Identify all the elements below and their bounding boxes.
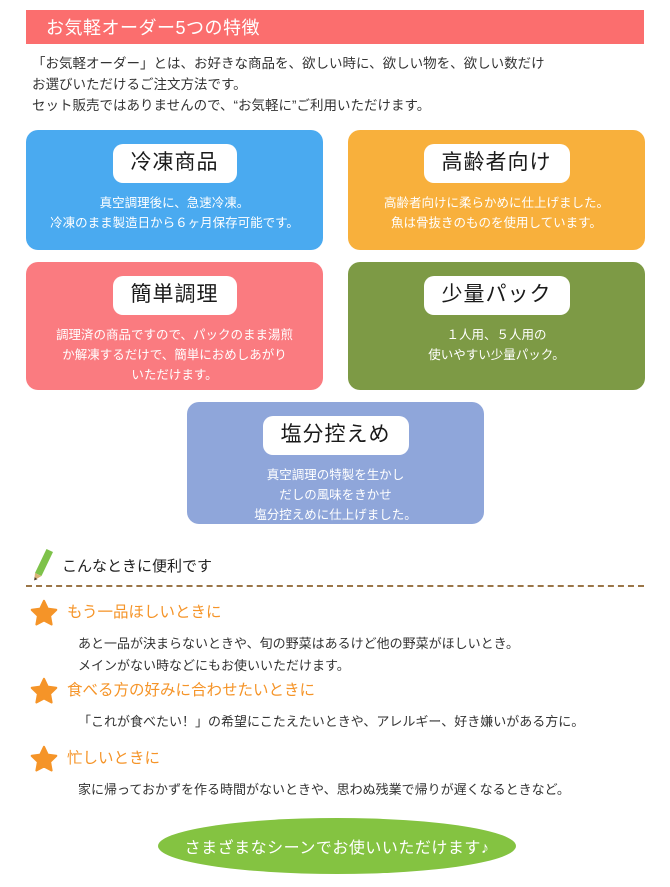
intro-paragraph: 「お気軽オーダー」とは、お好きな商品を、欲しい時に、欲しい物を、欲しい数だけ お… bbox=[32, 53, 638, 116]
usecase-item: もう一品ほしいときに あと一品が決まらないときや、旬の野菜はあるけど他の野菜がほ… bbox=[30, 600, 650, 677]
usecase-item-body: 「これが食べたい！」の希望にこたえたいときや、アレルギー、好き嫌いがある方に。 bbox=[78, 711, 650, 733]
usecase-item-title: 食べる方の好みに合わせたいときに bbox=[67, 678, 315, 704]
usecases-heading: こんなときに便利です bbox=[32, 548, 212, 582]
section-divider bbox=[26, 585, 644, 587]
pencil-icon bbox=[32, 548, 54, 582]
feature-card-body: 真空調理後に、急速冷凍。 冷凍のまま製造日から６ヶ月保存可能です。 bbox=[26, 193, 323, 233]
feature-card-label: 簡単調理 bbox=[113, 276, 237, 315]
page-header-banner: お気軽オーダー5つの特徴 bbox=[26, 10, 644, 44]
star-icon bbox=[30, 677, 58, 705]
usecases-heading-label: こんなときに便利です bbox=[62, 555, 212, 576]
page-title: お気軽オーダー5つの特徴 bbox=[26, 14, 260, 40]
feature-card-frozen: 冷凍商品 真空調理後に、急速冷凍。 冷凍のまま製造日から６ヶ月保存可能です。 bbox=[26, 130, 323, 250]
usecase-item-head: もう一品ほしいときに bbox=[30, 600, 650, 627]
usecase-item-body: 家に帰っておかずを作る時間がないときや、思わぬ残業で帰りが遅くなるときなど。 bbox=[78, 779, 650, 801]
feature-card-easy-cooking: 簡単調理 調理済の商品ですので、パックのまま湯煎 か解凍するだけで、簡単におめし… bbox=[26, 262, 323, 390]
usecase-item-head: 食べる方の好みに合わせたいときに bbox=[30, 678, 650, 705]
usecase-item-body: あと一品が決まらないときや、旬の野菜はあるけど他の野菜がほしいとき。 メインがな… bbox=[78, 633, 650, 677]
feature-card-label: 高齢者向け bbox=[424, 144, 570, 183]
usecase-item-title: 忙しいときに bbox=[67, 746, 160, 772]
usecase-item-title: もう一品ほしいときに bbox=[67, 600, 222, 626]
feature-card-low-salt: 塩分控えめ 真空調理の特製を生かし だしの風味をきかせ 塩分控えめに仕上げました… bbox=[187, 402, 484, 524]
feature-card-label: 冷凍商品 bbox=[113, 144, 237, 183]
feature-card-body: １人用、５人用の 使いやすい少量パック。 bbox=[348, 325, 645, 365]
usecase-item: 食べる方の好みに合わせたいときに 「これが食べたい！」の希望にこたえたいときや、… bbox=[30, 678, 650, 733]
star-icon bbox=[30, 599, 58, 627]
feature-card-body: 真空調理の特製を生かし だしの風味をきかせ 塩分控えめに仕上げました。 bbox=[187, 465, 484, 525]
footer-callout-oval: さまざまなシーンでお使いいただけます♪ bbox=[158, 818, 516, 874]
feature-card-label: 塩分控えめ bbox=[263, 416, 409, 455]
feature-card-body: 高齢者向けに柔らかめに仕上げました。 魚は骨抜きのものを使用しています。 bbox=[348, 193, 645, 233]
feature-card-body: 調理済の商品ですので、パックのまま湯煎 か解凍するだけで、簡単におめしあがり い… bbox=[26, 325, 323, 385]
usecase-item: 忙しいときに 家に帰っておかずを作る時間がないときや、思わぬ残業で帰りが遅くなる… bbox=[30, 746, 650, 801]
feature-card-small-pack: 少量パック １人用、５人用の 使いやすい少量パック。 bbox=[348, 262, 645, 390]
usecase-item-head: 忙しいときに bbox=[30, 746, 650, 773]
footer-callout-label: さまざまなシーンでお使いいただけます♪ bbox=[185, 834, 490, 858]
feature-card-label: 少量パック bbox=[424, 276, 570, 315]
star-icon bbox=[30, 745, 58, 773]
feature-card-elderly: 高齢者向け 高齢者向けに柔らかめに仕上げました。 魚は骨抜きのものを使用していま… bbox=[348, 130, 645, 250]
